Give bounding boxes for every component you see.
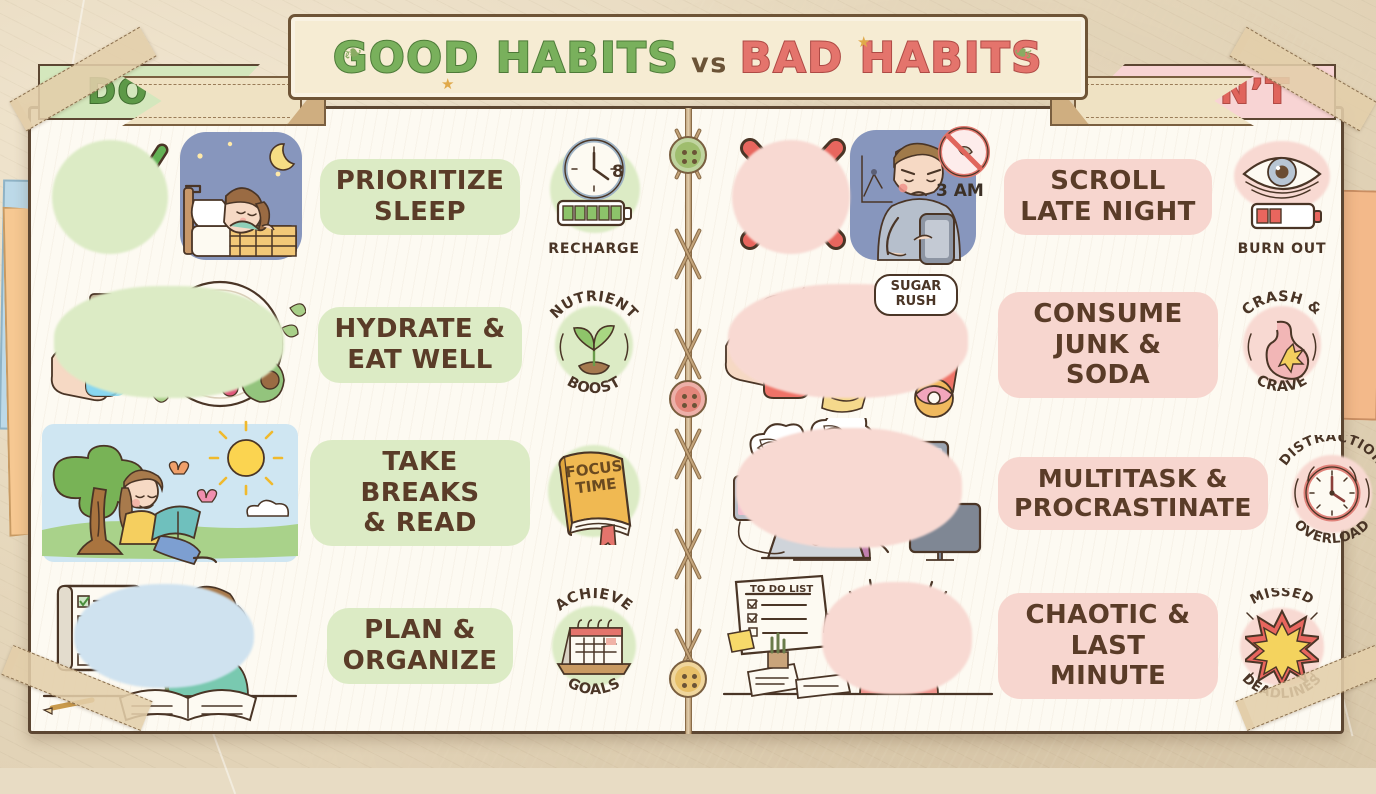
focus-time-book-text: FOCUS TIME: [564, 458, 626, 498]
title-bad-part: BAD HABITS: [740, 33, 1043, 82]
stressed-girl-messy-desk-illustration: TO DO LIST: [722, 568, 994, 724]
good-badge-cell: ACHIEVE GOALS: [534, 588, 654, 704]
svg-text:MISSED: MISSED: [1248, 588, 1317, 608]
todo-list-title: TO DO LIST: [750, 584, 813, 595]
sugar-rush-speech-bubble: SUGAR RUSH: [874, 274, 958, 316]
bad-habit-label-multitask: MULTITASK & PROCRASTINATE: [998, 457, 1268, 530]
good-habit-label-breaks: TAKE BREAKS & READ: [310, 440, 530, 546]
recharge-badge-caption: RECHARGE: [536, 241, 652, 257]
stitched-divider: [658, 108, 718, 734]
poster-title: GOOD HABITS vs BAD HABITS: [333, 33, 1043, 82]
missed-deadlines-arc-top: MISSED: [1248, 588, 1317, 608]
star-icon: ★: [857, 33, 870, 51]
good-badge-cell: 8 RECHARGE: [534, 139, 654, 255]
girl-reading-under-tree-illustration: [34, 418, 306, 568]
good-label-cell: HYDRATE & EAT WELL: [306, 307, 534, 382]
focus-time-badge: FOCUS TIME: [536, 435, 652, 551]
recharge-badge: 8 RECHARGE: [536, 139, 652, 255]
good-habits-column: PRIORITIZE SLEEP 8: [34, 112, 654, 732]
title-vs-part: vs: [691, 48, 728, 79]
bad-badge-cell: CRASH & CRAVE: [1222, 287, 1342, 403]
divider-stitch: [662, 526, 714, 582]
achieve-goals-badge: ACHIEVE GOALS: [536, 588, 652, 704]
bad-row-scroll: 3 AM SCROLL LATE NIGHT: [722, 122, 1342, 272]
title-ribbon-body: ❧ ❧ ★ ★ GOOD HABITS vs BAD HABITS: [288, 14, 1088, 100]
svg-text:GOALS: GOALS: [565, 675, 623, 698]
boy-scrolling-phone-at-night-illustration: 3 AM: [722, 122, 994, 272]
button-yellow[interactable]: [669, 660, 707, 698]
bad-row-multitask: MULTITASK & PROCRASTINATE DISTRACTION OV…: [722, 418, 1342, 568]
star-icon: ★: [441, 75, 454, 93]
crash-and-crave-badge: CRASH & CRAVE: [1224, 287, 1340, 403]
bad-habit-label-chaotic: CHAOTIC & LAST MINUTE: [998, 593, 1218, 699]
bad-badge-cell: BURN OUT: [1222, 139, 1342, 255]
good-row-hydrate: HYDRATE & EAT WELL NUTRIENT BOOST: [34, 272, 654, 418]
divider-stitch: [662, 226, 714, 282]
good-row-sleep: PRIORITIZE SLEEP 8: [34, 122, 654, 272]
sleeping-girl-illustration: [34, 122, 306, 272]
late-night-time-tag: 3 AM: [936, 181, 984, 201]
divider-stitch: [662, 326, 714, 382]
overwhelmed-girl-with-many-screens-illustration: [722, 418, 994, 568]
bad-label-cell: CHAOTIC & LAST MINUTE: [994, 593, 1222, 699]
good-habit-label-sleep: PRIORITIZE SLEEP: [320, 159, 521, 234]
poster-canvas: PRIORITIZE SLEEP 8: [0, 0, 1376, 768]
water-bottle-and-healthy-plate-illustration: [34, 272, 306, 418]
title-good-part: GOOD HABITS: [333, 33, 679, 82]
nutrient-boost-badge: NUTRIENT BOOST: [536, 287, 652, 403]
bad-label-cell: CONSUME JUNK & SODA: [994, 292, 1222, 398]
svg-text:ACHIEVE: ACHIEVE: [553, 588, 636, 614]
bad-habit-label-scroll: SCROLL LATE NIGHT: [1004, 159, 1212, 234]
soda-can-and-junk-food-illustration: SUGAR RUSH: [722, 272, 994, 418]
bad-label-cell: SCROLL LATE NIGHT: [994, 159, 1222, 234]
button-red[interactable]: [669, 380, 707, 418]
bad-habits-column: 3 AM SCROLL LATE NIGHT: [722, 112, 1342, 732]
achieve-goals-arc-bottom: GOALS: [565, 675, 623, 698]
good-habit-label-plan: PLAN & ORGANIZE: [327, 608, 514, 683]
divider-stitch: [662, 426, 714, 482]
good-row-breaks: TAKE BREAKS & READ FOCUS TIME: [34, 418, 654, 568]
bad-habit-label-junk: CONSUME JUNK & SODA: [998, 292, 1218, 398]
good-badge-cell: NUTRIENT BOOST: [534, 287, 654, 403]
distraction-overload-badge: DISTRACTION OVERLOAD: [1274, 435, 1376, 551]
button-green[interactable]: [669, 136, 707, 174]
good-label-cell: PLAN & ORGANIZE: [306, 608, 534, 683]
clock-hour-number: 8: [612, 162, 624, 182]
title-ribbon: ❧ ❧ ★ ★ GOOD HABITS vs BAD HABITS: [288, 14, 1088, 106]
bad-row-junk: SUGAR RUSH CONSUME JUNK & SODA CRASH & C…: [722, 272, 1342, 418]
burn-out-badge-caption: BURN OUT: [1224, 241, 1340, 257]
good-habit-label-hydrate: HYDRATE & EAT WELL: [318, 307, 521, 382]
good-label-cell: PRIORITIZE SLEEP: [306, 159, 534, 234]
bad-label-cell: MULTITASK & PROCRASTINATE: [994, 457, 1272, 530]
good-badge-cell: FOCUS TIME: [534, 435, 654, 551]
achieve-goals-arc-top: ACHIEVE: [553, 588, 636, 614]
bad-badge-cell: DISTRACTION OVERLOAD: [1272, 435, 1376, 551]
good-label-cell: TAKE BREAKS & READ: [306, 440, 534, 546]
burn-out-badge: BURN OUT: [1224, 139, 1340, 255]
